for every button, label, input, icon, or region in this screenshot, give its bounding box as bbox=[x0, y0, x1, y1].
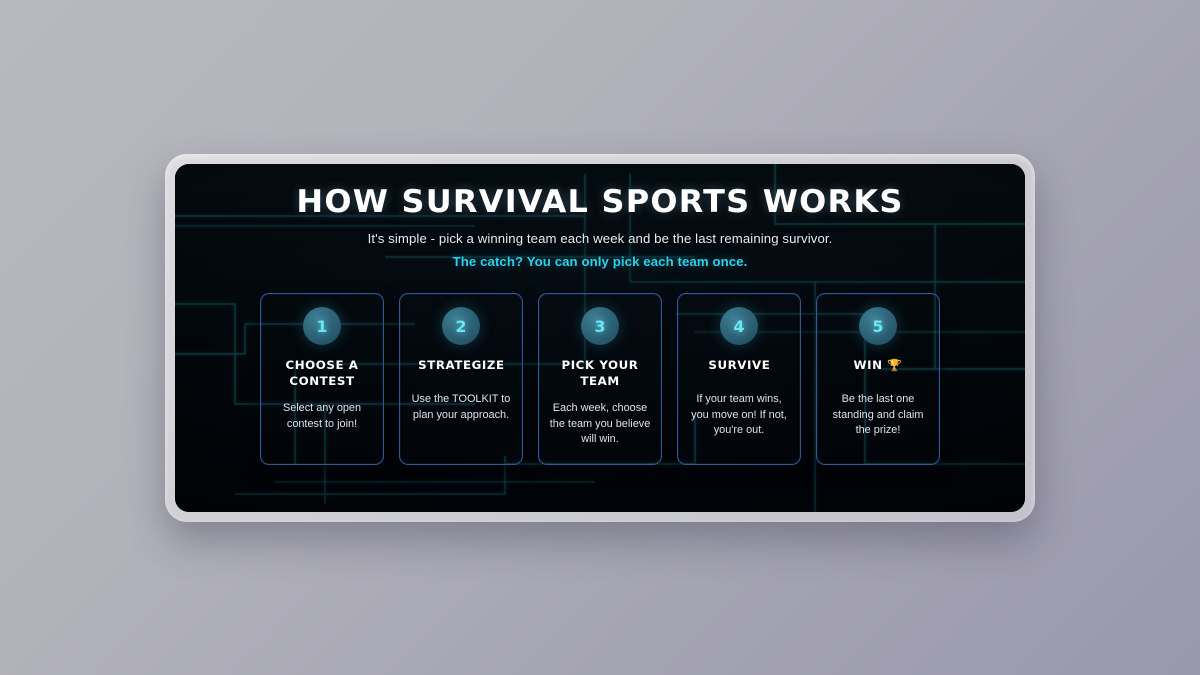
step-title-5: WIN 🏆 bbox=[854, 358, 903, 374]
page-catch-line: The catch? You can only pick each team o… bbox=[195, 254, 1005, 269]
step-description-3: Each week, choose the team you believe w… bbox=[548, 401, 652, 447]
page-title: HOW SURVIVAL SPORTS WORKS bbox=[183, 186, 1017, 219]
step-title-2: STRATEGIZE bbox=[418, 358, 504, 374]
step-card-2[interactable]: 2 STRATEGIZE Use the TOOLKIT to plan you… bbox=[399, 293, 523, 465]
step-number-5: 5 bbox=[872, 317, 883, 336]
step-badge-1: 1 bbox=[303, 307, 341, 345]
steps-list: 1 CHOOSE A CONTEST Select any open conte… bbox=[195, 293, 1005, 465]
step-card-1[interactable]: 1 CHOOSE A CONTEST Select any open conte… bbox=[260, 293, 384, 465]
step-badge-5: 5 bbox=[859, 307, 897, 345]
step-description-4: If your team wins, you move on! If not, … bbox=[687, 392, 791, 438]
screen: HOW SURVIVAL SPORTS WORKS It's simple - … bbox=[175, 164, 1025, 512]
step-number-2: 2 bbox=[455, 317, 466, 336]
step-badge-4: 4 bbox=[720, 307, 758, 345]
step-description-5: Be the last one standing and claim the p… bbox=[826, 392, 930, 438]
step-number-1: 1 bbox=[316, 317, 327, 336]
content-area: HOW SURVIVAL SPORTS WORKS It's simple - … bbox=[175, 164, 1025, 466]
step-number-3: 3 bbox=[594, 317, 605, 336]
step-badge-2: 2 bbox=[442, 307, 480, 345]
step-number-4: 4 bbox=[733, 317, 744, 336]
step-title-4: SURVIVE bbox=[708, 358, 770, 374]
step-title-1: CHOOSE A CONTEST bbox=[269, 358, 375, 390]
step-card-4[interactable]: 4 SURVIVE If your team wins, you move on… bbox=[677, 293, 801, 465]
step-description-2: Use the TOOLKIT to plan your approach. bbox=[409, 392, 513, 423]
step-card-3[interactable]: 3 PICK YOUR TEAM Each week, choose the t… bbox=[538, 293, 662, 465]
step-card-5[interactable]: 5 WIN 🏆 Be the last one standing and cla… bbox=[816, 293, 940, 465]
step-badge-3: 3 bbox=[581, 307, 619, 345]
step-title-3: PICK YOUR TEAM bbox=[547, 358, 653, 390]
step-description-1: Select any open contest to join! bbox=[270, 401, 374, 432]
device-bezel: HOW SURVIVAL SPORTS WORKS It's simple - … bbox=[165, 154, 1035, 522]
page-lede: It's simple - pick a winning team each w… bbox=[195, 231, 1005, 246]
